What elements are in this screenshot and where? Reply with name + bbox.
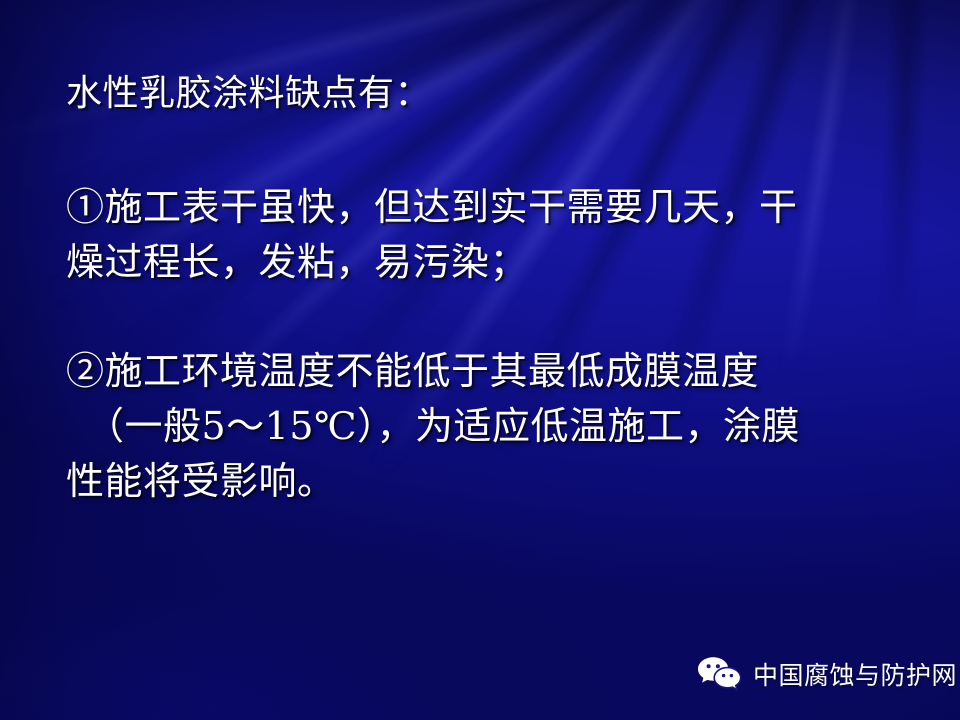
- slide-canvas: 水性乳胶涂料缺点有： ①施工表干虽快，但达到实干需要几天，干 燥过程长，发粘，易…: [0, 0, 960, 720]
- wechat-icon: [697, 655, 743, 693]
- paragraph-2-line-2: （一般5～15℃），为适应低温施工，涂膜: [86, 407, 800, 445]
- paragraph-1-line-1: ①施工表干虽快，但达到实干需要几天，干: [66, 188, 798, 226]
- watermark: 中国腐蚀与防护网: [697, 655, 957, 693]
- watermark-label: 中国腐蚀与防护网: [753, 656, 957, 692]
- slide-title: 水性乳胶涂料缺点有：: [66, 76, 431, 112]
- paragraph-1-line-2: 燥过程长，发粘，易污染；: [66, 243, 528, 281]
- paragraph-2-line-3: 性能将受影响。: [66, 462, 336, 500]
- paragraph-2-line-1: ②施工环境温度不能低于其最低成膜温度: [66, 352, 759, 390]
- slide-content: 水性乳胶涂料缺点有： ①施工表干虽快，但达到实干需要几天，干 燥过程长，发粘，易…: [0, 0, 960, 720]
